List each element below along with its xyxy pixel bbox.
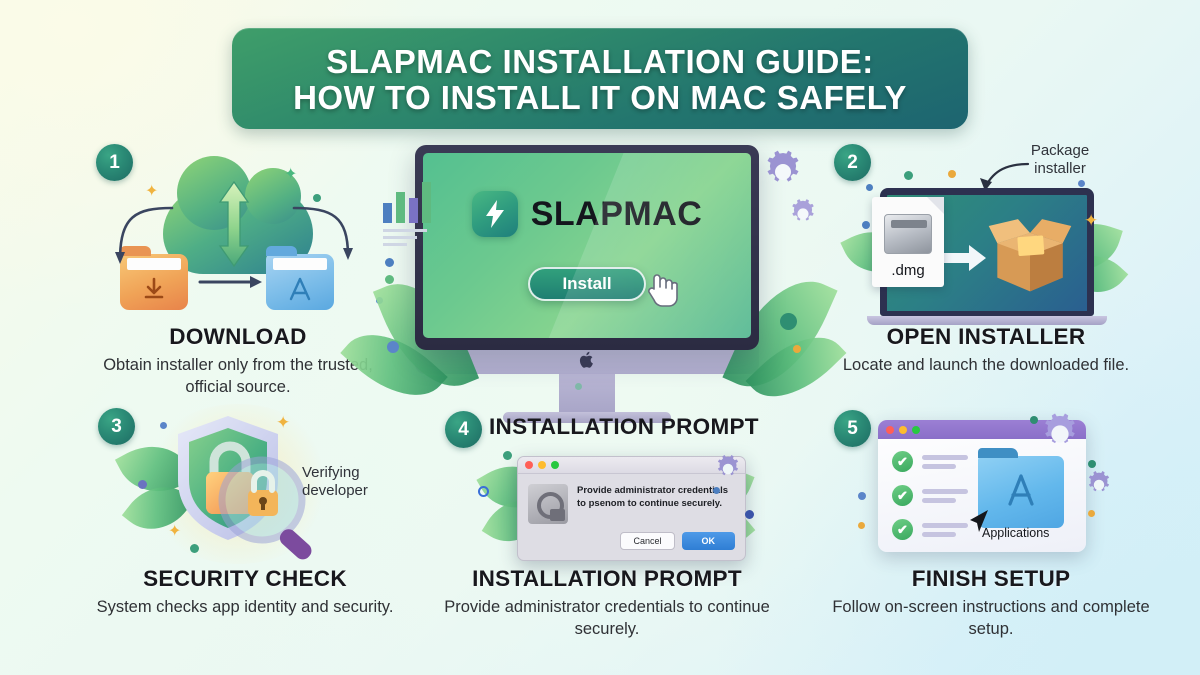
step-2-badge: 2 bbox=[834, 144, 871, 181]
hero-monitor: SLAPMAC Install bbox=[415, 145, 759, 423]
gear-icon bbox=[787, 198, 819, 230]
title-banner: SLAPMAC INSTALLATION GUIDE: HOW TO INSTA… bbox=[232, 28, 968, 129]
step-4-installation-prompt: 4 INSTALLATION PROMPT Provide administra… bbox=[437, 406, 777, 646]
close-icon[interactable] bbox=[525, 461, 533, 469]
cancel-button[interactable]: Cancel bbox=[620, 532, 674, 550]
decor-dot bbox=[904, 171, 913, 180]
line-group bbox=[922, 489, 968, 503]
gear-icon bbox=[760, 149, 806, 195]
decor-dot bbox=[1088, 510, 1095, 517]
step-4-heading: INSTALLATION PROMPT bbox=[489, 414, 777, 440]
decor-dot bbox=[160, 422, 167, 429]
verifying-developer-annotation: Verifying developer bbox=[302, 464, 402, 501]
checklist-item: ✔ bbox=[892, 519, 968, 540]
minimize-icon[interactable] bbox=[538, 461, 546, 469]
slapmac-wordmark: SLAPMAC bbox=[531, 195, 703, 234]
decor-dot bbox=[1078, 180, 1085, 187]
decor-dot bbox=[1088, 460, 1096, 468]
decor-dot bbox=[862, 221, 870, 229]
decor-dot bbox=[858, 522, 865, 529]
disk-image-glyph bbox=[884, 214, 932, 254]
ok-button[interactable]: OK bbox=[682, 532, 736, 550]
step-5-finish-setup: 5 ✔ ✔ bbox=[826, 406, 1156, 646]
monitor-chin bbox=[423, 338, 751, 364]
step-2-open-installer: 2 Package installer bbox=[826, 142, 1146, 392]
decor-dot bbox=[385, 258, 394, 267]
step-1-title: DOWNLOAD bbox=[88, 324, 388, 350]
decor-dot bbox=[385, 275, 394, 284]
gear-icon bbox=[713, 454, 743, 484]
decor-dot bbox=[575, 383, 582, 390]
maximize-icon[interactable] bbox=[912, 426, 920, 434]
app-store-glyph-icon bbox=[285, 276, 315, 304]
step-1-desc: Obtain installer only from the trusted, … bbox=[82, 355, 394, 399]
decor-dot bbox=[713, 487, 720, 494]
sparkle-icon: ✦ bbox=[168, 524, 181, 540]
decor-dot bbox=[503, 451, 512, 460]
decor-dot bbox=[866, 184, 873, 191]
step-4-desc: Provide administrator credentials to con… bbox=[429, 597, 785, 641]
step-5-badge: 5 bbox=[834, 410, 871, 447]
decor-dot bbox=[138, 480, 147, 489]
step-3-desc: System checks app identity and security. bbox=[84, 597, 406, 619]
infographic-canvas: SLAPMAC INSTALLATION GUIDE: HOW TO INSTA… bbox=[0, 0, 1200, 675]
check-icon: ✔ bbox=[892, 485, 913, 506]
decor-dot bbox=[793, 345, 801, 353]
step-4-title: INSTALLATION PROMPT bbox=[437, 566, 777, 592]
dmg-file-label: .dmg bbox=[872, 262, 944, 279]
applications-folder-icon[interactable] bbox=[978, 456, 1064, 528]
dialog-titlebar bbox=[518, 457, 745, 474]
curve-arrow-right-icon bbox=[288, 202, 358, 272]
download-arrow-icon bbox=[141, 276, 167, 302]
title-line-2: HOW TO INSTALL IT ON MAC SAFELY bbox=[293, 80, 907, 115]
minimize-icon[interactable] bbox=[899, 426, 907, 434]
maximize-icon[interactable] bbox=[551, 461, 559, 469]
package-box-icon bbox=[987, 217, 1073, 297]
step-3-title: SECURITY CHECK bbox=[90, 566, 400, 592]
folder-tab bbox=[978, 448, 1018, 458]
gear-icon bbox=[1038, 412, 1082, 456]
hand-cursor-icon bbox=[645, 271, 679, 311]
decor-dot bbox=[780, 313, 797, 330]
step-3-badge: 3 bbox=[98, 408, 135, 445]
step-4-badge: 4 bbox=[445, 411, 482, 448]
decor-dot bbox=[1030, 416, 1038, 424]
checklist-item: ✔ bbox=[892, 451, 968, 472]
step-3-security-check: 3 bbox=[90, 406, 400, 646]
applications-label: Applications bbox=[982, 526, 1049, 540]
install-button[interactable]: Install bbox=[528, 267, 646, 301]
decor-dot bbox=[313, 194, 321, 202]
check-icon: ✔ bbox=[892, 451, 913, 472]
step-2-title: OPEN INSTALLER bbox=[826, 324, 1146, 350]
slapmac-logo-tile bbox=[472, 191, 518, 237]
step-5-title: FINISH SETUP bbox=[826, 566, 1156, 592]
decor-dot bbox=[948, 170, 956, 178]
lightning-bolt-icon bbox=[483, 199, 507, 229]
monitor-screen: SLAPMAC Install bbox=[423, 153, 751, 338]
decor-dot bbox=[858, 492, 866, 500]
sparkle-icon: ✦ bbox=[1084, 212, 1098, 229]
dmg-file-icon: .dmg bbox=[872, 197, 944, 287]
decor-ring bbox=[478, 486, 489, 497]
close-icon[interactable] bbox=[886, 426, 894, 434]
app-store-glyph-icon bbox=[1001, 472, 1041, 510]
checklist-item: ✔ bbox=[892, 485, 968, 506]
decor-dot bbox=[190, 544, 199, 553]
transfer-arrow-icon bbox=[198, 274, 266, 290]
curve-arrow-left-icon bbox=[112, 202, 182, 272]
monitor-bezel: SLAPMAC Install bbox=[415, 145, 759, 350]
dialog-body: Provide administrator credentials to pse… bbox=[518, 474, 745, 532]
sparkle-icon: ✦ bbox=[145, 184, 158, 200]
gear-icon bbox=[1084, 470, 1114, 500]
decor-dot bbox=[745, 510, 754, 519]
arrow-right-icon bbox=[943, 243, 987, 273]
mini-bar-chart-decor bbox=[380, 177, 438, 249]
title-line-1: SLAPMAC INSTALLATION GUIDE: bbox=[326, 44, 874, 79]
step-5-desc: Follow on-screen instructions and comple… bbox=[814, 597, 1168, 641]
admin-credentials-dialog: Provide administrator credentials to pse… bbox=[517, 456, 746, 561]
sparkle-icon: ✦ bbox=[284, 167, 297, 183]
decor-dot bbox=[387, 341, 399, 353]
check-icon: ✔ bbox=[892, 519, 913, 540]
security-prefs-icon bbox=[528, 484, 568, 524]
sparkle-icon: ✦ bbox=[276, 414, 290, 431]
step-2-desc: Locate and launch the downloaded file. bbox=[826, 355, 1146, 377]
dialog-buttons: Cancel OK bbox=[518, 532, 745, 560]
step-1-badge: 1 bbox=[96, 144, 133, 181]
sync-arrows-icon bbox=[214, 180, 254, 268]
checklist: ✔ ✔ ✔ bbox=[892, 449, 968, 540]
dialog-message: Provide administrator credentials to pse… bbox=[577, 484, 735, 524]
line-group bbox=[922, 523, 968, 537]
line-group bbox=[922, 455, 968, 469]
